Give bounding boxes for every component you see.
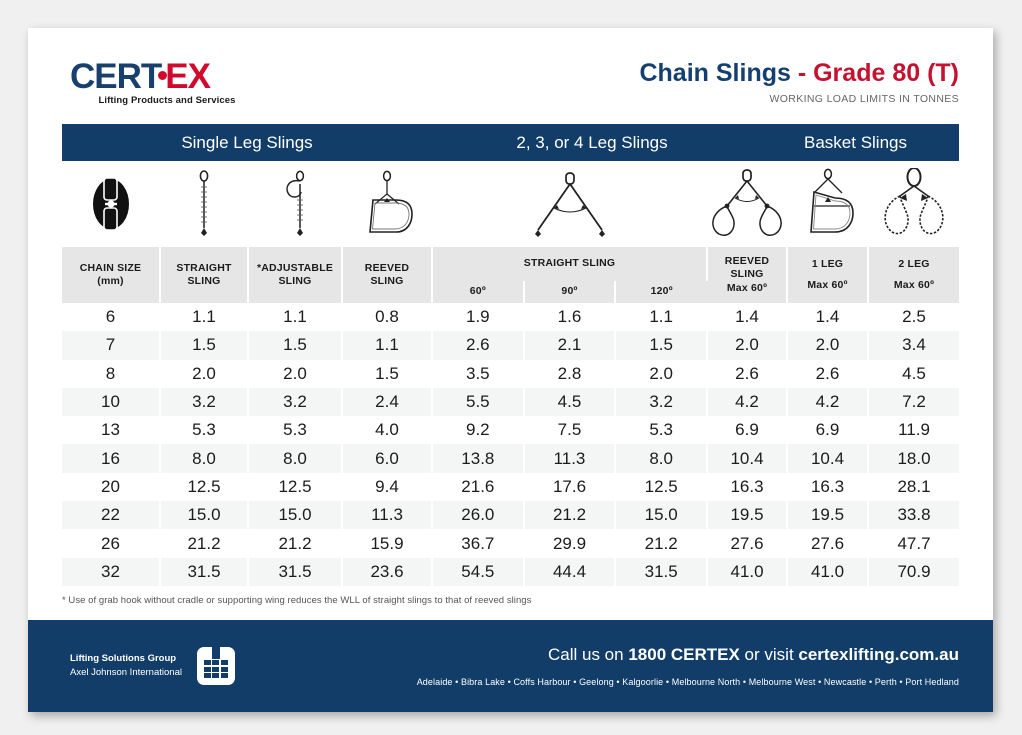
cell-wll: 1.5 bbox=[160, 331, 248, 359]
cell-wll: 21.2 bbox=[615, 529, 707, 557]
cell-wll: 2.0 bbox=[615, 360, 707, 388]
cell-wll: 5.3 bbox=[615, 416, 707, 444]
cell-wll: 27.6 bbox=[707, 529, 787, 557]
cell-wll: 23.6 bbox=[342, 558, 432, 586]
cell-wll: 2.0 bbox=[160, 360, 248, 388]
cell-wll: 12.5 bbox=[248, 473, 342, 501]
cell-wll: 2.0 bbox=[707, 331, 787, 359]
cell-wll: 21.6 bbox=[432, 473, 524, 501]
cell-wll: 1.4 bbox=[707, 303, 787, 331]
certex-logo-ex: EX bbox=[165, 57, 210, 96]
cell-wll: 1.5 bbox=[615, 331, 707, 359]
cell-wll: 8.0 bbox=[160, 444, 248, 472]
cell-wll: 1.6 bbox=[524, 303, 616, 331]
table-row: 82.02.01.53.52.82.02.62.64.5 bbox=[62, 360, 959, 388]
col-header-angle-120: 120º bbox=[615, 281, 707, 303]
cell-wll: 7.2 bbox=[868, 388, 959, 416]
certex-logo: CERTEX Lifting Products and Services bbox=[70, 59, 290, 106]
cell-wll: 15.0 bbox=[615, 501, 707, 529]
cell-wll: 1.1 bbox=[615, 303, 707, 331]
page-title: Chain Slings - Grade 80 (T) bbox=[639, 60, 959, 86]
cell-chain-size: 7 bbox=[62, 331, 160, 359]
cell-wll: 9.2 bbox=[432, 416, 524, 444]
band-basket-slings: Basket Slings bbox=[752, 124, 959, 161]
cell-wll: 54.5 bbox=[432, 558, 524, 586]
col-header-chain-size: CHAIN SIZE (mm) CHAIN SIZE(mm) bbox=[62, 247, 160, 303]
cell-wll: 7.5 bbox=[524, 416, 616, 444]
cell-chain-size: 22 bbox=[62, 501, 160, 529]
cell-wll: 44.4 bbox=[524, 558, 616, 586]
axel-johnson-logo-icon bbox=[197, 647, 235, 685]
cell-chain-size: 16 bbox=[62, 444, 160, 472]
table-body: 61.11.10.81.91.61.11.41.42.571.51.51.12.… bbox=[62, 303, 959, 586]
cell-wll: 10.4 bbox=[707, 444, 787, 472]
basket-sling-two-leg-icon bbox=[868, 161, 959, 247]
two-leg-reeved-sling-icon bbox=[707, 161, 787, 247]
cell-wll: 33.8 bbox=[868, 501, 959, 529]
col-header-group-straight-sling: STRAIGHT SLING bbox=[432, 247, 707, 281]
cell-wll: 11.3 bbox=[524, 444, 616, 472]
cell-chain-size: 8 bbox=[62, 360, 160, 388]
cell-wll: 4.5 bbox=[524, 388, 616, 416]
certex-logo-tagline: Lifting Products and Services bbox=[70, 95, 264, 106]
col-header-straight-sling: STRAIGHTSLING bbox=[160, 247, 248, 303]
sheet-header: CERTEX Lifting Products and Services Cha… bbox=[28, 28, 993, 124]
table-row: 135.35.34.09.27.55.36.96.911.9 bbox=[62, 416, 959, 444]
cell-wll: 1.4 bbox=[787, 303, 868, 331]
cell-wll: 4.2 bbox=[707, 388, 787, 416]
col-header-basket-two-leg: 2 LEGMax 60º bbox=[868, 247, 959, 303]
col-header-adjustable-sling: *ADJUSTABLESLING bbox=[248, 247, 342, 303]
cell-wll: 15.0 bbox=[248, 501, 342, 529]
cell-wll: 1.5 bbox=[248, 331, 342, 359]
cell-chain-size: 32 bbox=[62, 558, 160, 586]
cell-wll: 31.5 bbox=[160, 558, 248, 586]
table-head: CHAIN SIZE (mm) CHAIN SIZE(mm) STRAIGHTS… bbox=[62, 247, 959, 303]
cell-wll: 16.3 bbox=[707, 473, 787, 501]
page-title-accent: - Grade 80 (T) bbox=[798, 59, 959, 87]
col-header-basket-one-leg-angle: Max 60º bbox=[788, 279, 867, 292]
cell-wll: 2.5 bbox=[868, 303, 959, 331]
table-header-row-primary: CHAIN SIZE (mm) CHAIN SIZE(mm) STRAIGHTS… bbox=[62, 247, 959, 281]
col-header-multileg-reeved-angle: Max 60º bbox=[708, 282, 786, 295]
footer-group-line2: Axel Johnson International bbox=[70, 666, 182, 680]
footer-group-line1: Lifting Solutions Group bbox=[70, 652, 182, 666]
cell-wll: 13.8 bbox=[432, 444, 524, 472]
chain-link-icon bbox=[62, 161, 160, 247]
footer-call-middle: or visit bbox=[740, 645, 799, 664]
footer-locations: Adelaide • Bibra Lake • Coffs Harbour • … bbox=[417, 677, 959, 687]
footnote: * Use of grab hook without cradle or sup… bbox=[62, 595, 959, 606]
col-header-angle-60: 60º bbox=[432, 281, 524, 303]
cell-wll: 19.5 bbox=[707, 501, 787, 529]
cell-wll: 11.3 bbox=[342, 501, 432, 529]
cell-chain-size: 6 bbox=[62, 303, 160, 331]
cell-wll: 1.1 bbox=[160, 303, 248, 331]
band-single-leg-slings: Single Leg Slings bbox=[62, 124, 432, 161]
table-row: 61.11.10.81.91.61.11.41.42.5 bbox=[62, 303, 959, 331]
cell-wll: 0.8 bbox=[342, 303, 432, 331]
cell-chain-size: 26 bbox=[62, 529, 160, 557]
page-subtitle: WORKING LOAD LIMITS IN TONNES bbox=[639, 93, 959, 105]
cell-wll: 3.2 bbox=[160, 388, 248, 416]
table-row: 2215.015.011.326.021.215.019.519.533.8 bbox=[62, 501, 959, 529]
cell-wll: 18.0 bbox=[868, 444, 959, 472]
cell-wll: 4.0 bbox=[342, 416, 432, 444]
col-header-multileg-reeved-sling: REEVEDSLINGMax 60º bbox=[707, 247, 787, 303]
cell-wll: 15.9 bbox=[342, 529, 432, 557]
cell-chain-size: 13 bbox=[62, 416, 160, 444]
cell-wll: 12.5 bbox=[160, 473, 248, 501]
cell-wll: 3.2 bbox=[248, 388, 342, 416]
basket-sling-one-leg-icon bbox=[787, 161, 868, 247]
table-row: 3231.531.523.654.544.431.541.041.070.9 bbox=[62, 558, 959, 586]
cell-wll: 16.3 bbox=[787, 473, 868, 501]
cell-wll: 17.6 bbox=[524, 473, 616, 501]
cell-wll: 15.0 bbox=[160, 501, 248, 529]
cell-wll: 6.9 bbox=[707, 416, 787, 444]
page-title-main: Chain Slings bbox=[639, 59, 790, 87]
adjustable-sling-icon bbox=[248, 161, 342, 247]
cell-wll: 2.6 bbox=[432, 331, 524, 359]
title-block: Chain Slings - Grade 80 (T) WORKING LOAD… bbox=[639, 60, 959, 105]
cell-wll: 1.9 bbox=[432, 303, 524, 331]
cell-wll: 10.4 bbox=[787, 444, 868, 472]
cell-wll: 11.9 bbox=[868, 416, 959, 444]
footer-call-prefix: Call us on bbox=[548, 645, 628, 664]
pictogram-row bbox=[62, 161, 959, 247]
cell-wll: 2.6 bbox=[707, 360, 787, 388]
cell-wll: 41.0 bbox=[787, 558, 868, 586]
footer-group-block: Lifting Solutions Group Axel Johnson Int… bbox=[70, 647, 235, 685]
col-header-basket-one-leg: 1 LEGMax 60º bbox=[787, 247, 868, 303]
cell-wll: 2.8 bbox=[524, 360, 616, 388]
cell-wll: 21.2 bbox=[248, 529, 342, 557]
cell-wll: 2.0 bbox=[248, 360, 342, 388]
col-header-angle-90: 90º bbox=[524, 281, 616, 303]
certex-logo-cert: CERT bbox=[70, 57, 161, 96]
cell-wll: 2.6 bbox=[787, 360, 868, 388]
cell-wll: 12.5 bbox=[615, 473, 707, 501]
cell-wll: 1.1 bbox=[342, 331, 432, 359]
spec-sheet-card: CERTEX Lifting Products and Services Cha… bbox=[28, 28, 993, 712]
two-leg-straight-sling-icon bbox=[432, 161, 707, 247]
cell-wll: 3.2 bbox=[615, 388, 707, 416]
cell-wll: 1.1 bbox=[248, 303, 342, 331]
cell-wll: 36.7 bbox=[432, 529, 524, 557]
cell-wll: 6.0 bbox=[342, 444, 432, 472]
cell-wll: 21.2 bbox=[524, 501, 616, 529]
wll-table: CHAIN SIZE (mm) CHAIN SIZE(mm) STRAIGHTS… bbox=[62, 247, 959, 586]
footer-contact-block: Call us on 1800 CERTEX or visit certexli… bbox=[417, 645, 959, 687]
cell-wll: 8.0 bbox=[248, 444, 342, 472]
cell-wll: 26.0 bbox=[432, 501, 524, 529]
sling-group-band: Single Leg Slings 2, 3, or 4 Leg Slings … bbox=[62, 124, 959, 161]
footer-call-line: Call us on 1800 CERTEX or visit certexli… bbox=[417, 645, 959, 665]
cell-wll: 21.2 bbox=[160, 529, 248, 557]
cell-wll: 6.9 bbox=[787, 416, 868, 444]
cell-wll: 27.6 bbox=[787, 529, 868, 557]
cell-wll: 2.4 bbox=[342, 388, 432, 416]
axel-johnson-logo-grid bbox=[204, 660, 228, 678]
cell-wll: 41.0 bbox=[707, 558, 787, 586]
cell-wll: 2.0 bbox=[787, 331, 868, 359]
cell-wll: 5.5 bbox=[432, 388, 524, 416]
cell-wll: 31.5 bbox=[615, 558, 707, 586]
table-row: 2621.221.215.936.729.921.227.627.647.7 bbox=[62, 529, 959, 557]
cell-wll: 70.9 bbox=[868, 558, 959, 586]
footer-website[interactable]: certexlifting.com.au bbox=[798, 645, 959, 664]
cell-wll: 1.5 bbox=[342, 360, 432, 388]
footer-phone[interactable]: 1800 CERTEX bbox=[628, 645, 740, 664]
cell-wll: 31.5 bbox=[248, 558, 342, 586]
cell-wll: 4.2 bbox=[787, 388, 868, 416]
cell-wll: 47.7 bbox=[868, 529, 959, 557]
cell-chain-size: 20 bbox=[62, 473, 160, 501]
cell-wll: 8.0 bbox=[615, 444, 707, 472]
table-row: 103.23.22.45.54.53.24.24.27.2 bbox=[62, 388, 959, 416]
cell-chain-size: 10 bbox=[62, 388, 160, 416]
cell-wll: 3.4 bbox=[868, 331, 959, 359]
footer-group-text: Lifting Solutions Group Axel Johnson Int… bbox=[70, 652, 182, 680]
col-header-basket-two-leg-angle: Max 60º bbox=[869, 279, 959, 292]
cell-wll: 5.3 bbox=[248, 416, 342, 444]
cell-wll: 28.1 bbox=[868, 473, 959, 501]
cell-wll: 29.9 bbox=[524, 529, 616, 557]
cell-wll: 3.5 bbox=[432, 360, 524, 388]
straight-sling-icon bbox=[160, 161, 248, 247]
table-row: 2012.512.59.421.617.612.516.316.328.1 bbox=[62, 473, 959, 501]
cell-wll: 5.3 bbox=[160, 416, 248, 444]
table-row: 168.08.06.013.811.38.010.410.418.0 bbox=[62, 444, 959, 472]
table-row: 71.51.51.12.62.11.52.02.03.4 bbox=[62, 331, 959, 359]
sheet-footer: Lifting Solutions Group Axel Johnson Int… bbox=[28, 620, 993, 712]
band-multi-leg-slings: 2, 3, or 4 Leg Slings bbox=[432, 124, 752, 161]
col-header-reeved-sling: REEVEDSLING bbox=[342, 247, 432, 303]
cell-wll: 4.5 bbox=[868, 360, 959, 388]
cell-wll: 19.5 bbox=[787, 501, 868, 529]
reeved-sling-icon bbox=[342, 161, 432, 247]
certex-logo-wordmark: CERTEX bbox=[70, 59, 290, 94]
cell-wll: 9.4 bbox=[342, 473, 432, 501]
cell-wll: 2.1 bbox=[524, 331, 616, 359]
